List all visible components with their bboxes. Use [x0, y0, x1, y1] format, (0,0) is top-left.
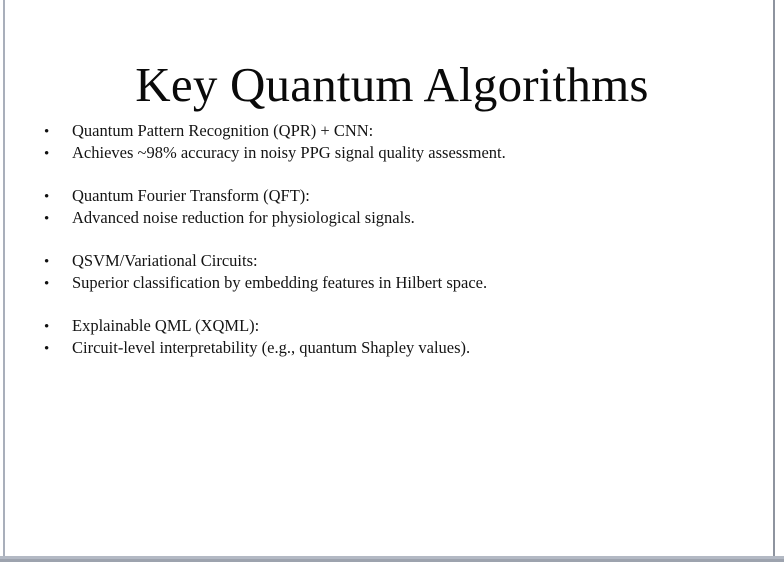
list-item: • QSVM/Variational Circuits:: [0, 250, 784, 272]
bullet-group: • QSVM/Variational Circuits: • Superior …: [0, 250, 784, 294]
bullet-point-icon: •: [44, 251, 72, 273]
bullet-group: • Explainable QML (XQML): • Circuit-leve…: [0, 315, 784, 359]
bullet-group: • Quantum Fourier Transform (QFT): • Adv…: [0, 185, 784, 229]
bullet-detail-text: Advanced noise reduction for physiologic…: [72, 207, 784, 229]
bullet-heading-text: QSVM/Variational Circuits:: [72, 250, 784, 272]
bullet-point-icon: •: [44, 338, 72, 360]
list-item: • Superior classification by embedding f…: [0, 272, 784, 294]
list-item: • Quantum Pattern Recognition (QPR) + CN…: [0, 120, 784, 142]
list-item: • Circuit-level interpretability (e.g., …: [0, 337, 784, 359]
slide-canvas: Key Quantum Algorithms • Quantum Pattern…: [0, 0, 784, 573]
bullet-detail-text: Achieves ~98% accuracy in noisy PPG sign…: [72, 142, 784, 164]
slide-title: Key Quantum Algorithms: [0, 57, 784, 114]
bullet-detail-text: Circuit-level interpretability (e.g., qu…: [72, 337, 784, 359]
bullet-point-icon: •: [44, 143, 72, 165]
bullet-point-icon: •: [44, 208, 72, 230]
bullet-heading-text: Quantum Fourier Transform (QFT):: [72, 185, 784, 207]
bullet-group: • Quantum Pattern Recognition (QPR) + CN…: [0, 120, 784, 164]
list-item: • Advanced noise reduction for physiolog…: [0, 207, 784, 229]
list-item: • Explainable QML (XQML):: [0, 315, 784, 337]
bullet-heading-text: Explainable QML (XQML):: [72, 315, 784, 337]
slide-body-list: • Quantum Pattern Recognition (QPR) + CN…: [0, 120, 784, 359]
bullet-point-icon: •: [44, 186, 72, 208]
bullet-point-icon: •: [44, 316, 72, 338]
bullet-point-icon: •: [44, 273, 72, 295]
list-item: • Quantum Fourier Transform (QFT):: [0, 185, 784, 207]
list-item: • Achieves ~98% accuracy in noisy PPG si…: [0, 142, 784, 164]
bullet-detail-text: Superior classification by embedding fea…: [72, 272, 784, 294]
bullet-heading-text: Quantum Pattern Recognition (QPR) + CNN:: [72, 120, 784, 142]
bullet-point-icon: •: [44, 121, 72, 143]
slide-bottom-divider-shadow: [0, 559, 784, 562]
